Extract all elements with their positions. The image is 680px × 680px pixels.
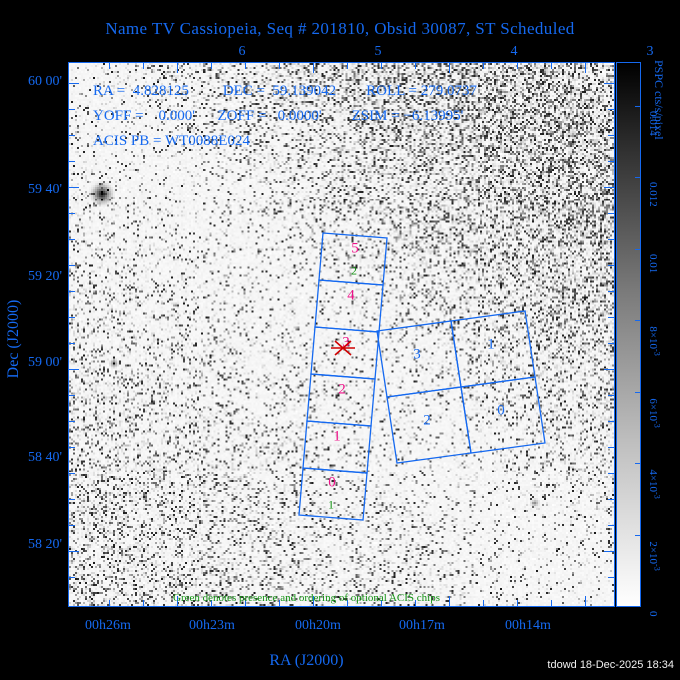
- tick-left-2: [69, 135, 75, 136]
- tick-right-0: [604, 83, 614, 84]
- tick-top-4: [245, 63, 246, 69]
- tick-top-11: [483, 63, 484, 69]
- colorbar-tick-0: [635, 606, 640, 607]
- y-axis-label-5: 58 20': [2, 537, 62, 553]
- colorbar-tick-label-5: 0.01: [647, 254, 659, 273]
- colorbar-tick-2: [635, 463, 640, 464]
- tick-right-8: [608, 291, 614, 292]
- tick-right-15: [608, 473, 614, 474]
- tick-left-8: [69, 291, 75, 292]
- chip-label-i3: 3: [413, 347, 421, 364]
- tick-left-12: [69, 395, 75, 396]
- colorbar-tick-label-6: 0.012: [647, 182, 659, 207]
- tick-left-15: [69, 473, 75, 474]
- chip-label-s2: 2: [338, 382, 346, 399]
- green-chip-note: Green denotes presence and ordering of o…: [0, 592, 613, 604]
- tick-right-18: [604, 551, 614, 552]
- x-axis-label-3: 00h17m: [399, 618, 445, 634]
- chip-optional-s0: 1: [328, 498, 334, 513]
- top-axis-label-3: 3: [647, 44, 654, 60]
- tick-left-3: [69, 161, 75, 162]
- tick-left-17: [69, 525, 75, 526]
- chip-label-i0: 0: [497, 403, 505, 420]
- timestamp-footer: tdowd 18-Dec-2025 18:34: [547, 659, 674, 671]
- tick-right-2: [608, 135, 614, 136]
- colorbar: [616, 62, 641, 607]
- tick-top-13: [551, 63, 552, 69]
- tick-right-1: [608, 109, 614, 110]
- tick-right-3: [608, 161, 614, 162]
- colorbar-tick-1: [635, 535, 640, 536]
- tick-top-6: [313, 63, 314, 73]
- tick-left-13: [69, 421, 75, 422]
- y-axis-label-0: 60 00': [2, 74, 62, 90]
- colorbar-tick-label-2: 4×10-3: [647, 469, 662, 498]
- colorbar-tick-label-4: 8×10-3: [647, 327, 662, 356]
- observation-plot-window: Name TV Cassiopeia, Seq # 201810, Obsid …: [0, 0, 680, 680]
- tick-right-16: [608, 499, 614, 500]
- tick-top-5: [279, 63, 280, 69]
- colorbar-tick-7: [635, 106, 640, 107]
- tick-top-2: [177, 63, 178, 73]
- readout-line-offsets: YOFF = 0.000' ZOFF = 0.0000' ZSIM = −6.1…: [93, 108, 463, 125]
- tick-right-5: [608, 213, 614, 214]
- tick-top-7: [347, 63, 348, 69]
- colorbar-tick-4: [635, 320, 640, 321]
- tick-top-3: [211, 63, 212, 69]
- tick-right-12: [608, 395, 614, 396]
- top-axis-label-0: 6: [239, 44, 246, 60]
- tick-left-1: [69, 109, 75, 110]
- tick-left-10: [69, 343, 75, 344]
- tick-left-19: [69, 577, 75, 578]
- colorbar-tick-6: [635, 177, 640, 178]
- colorbar-tick-3: [635, 392, 640, 393]
- x-axis-title: RA (J2000): [0, 652, 613, 670]
- tick-right-17: [608, 525, 614, 526]
- x-axis-label-1: 00h23m: [189, 618, 235, 634]
- y-axis-title: Dec (J2000): [5, 239, 23, 439]
- tick-left-5: [69, 213, 75, 214]
- tick-left-6: [69, 239, 75, 240]
- readout-line-acis-pb: ACIS PB = WT0088E024: [93, 133, 250, 150]
- x-axis-label-4: 00h14m: [505, 618, 551, 634]
- top-axis-label-1: 5: [375, 44, 382, 60]
- tick-right-7: [608, 265, 614, 266]
- y-axis-label-4: 58 40': [2, 450, 62, 466]
- chip-label-s3: 3: [342, 335, 350, 352]
- chip-label-i2: 2: [423, 413, 431, 430]
- tick-top-1: [143, 63, 144, 69]
- tick-top-9: [415, 63, 416, 69]
- tick-left-9: [69, 317, 75, 318]
- sky-image-plot[interactable]: RA = 4.828125 DEC = 59.139042 ROLL = 279…: [68, 62, 615, 607]
- tick-top-0: [109, 63, 110, 69]
- x-axis-label-0: 00h26m: [85, 618, 131, 634]
- tick-left-0: [69, 83, 79, 84]
- page-title: Name TV Cassiopeia, Seq # 201810, Obsid …: [0, 19, 680, 39]
- top-axis-label-2: 4: [511, 44, 518, 60]
- tick-top-12: [517, 63, 518, 69]
- tick-left-7: [69, 265, 75, 266]
- tick-left-11: [69, 369, 79, 370]
- tick-top-8: [381, 63, 382, 69]
- colorbar-tick-5: [635, 249, 640, 250]
- tick-right-10: [608, 343, 614, 344]
- x-axis-label-2: 00h20m: [295, 618, 341, 634]
- chip-optional-s5: 2: [351, 264, 357, 279]
- chip-label-i1: 1: [487, 337, 495, 354]
- tick-left-16: [69, 499, 75, 500]
- tick-right-4: [604, 187, 614, 188]
- chip-label-s0: 0: [328, 475, 336, 492]
- tick-top-14: [585, 63, 586, 73]
- tick-right-6: [608, 239, 614, 240]
- chip-label-s4: 4: [347, 288, 355, 305]
- tick-right-19: [608, 577, 614, 578]
- tick-top-10: [449, 63, 450, 73]
- tick-right-13: [608, 421, 614, 422]
- tick-right-9: [608, 317, 614, 318]
- tick-left-18: [69, 551, 79, 552]
- tick-left-4: [69, 187, 79, 188]
- tick-left-14: [69, 447, 75, 448]
- tick-right-11: [604, 369, 614, 370]
- readout-line-coordinates: RA = 4.828125 DEC = 59.139042 ROLL = 279…: [93, 83, 477, 100]
- colorbar-tick-label-3: 6×10-3: [647, 398, 662, 427]
- colorbar-tick-label-0: 0: [647, 611, 659, 617]
- colorbar-tick-label-1: 2×10-3: [647, 541, 662, 570]
- chip-label-s5: 5: [351, 241, 359, 258]
- chip-label-s1: 1: [333, 429, 341, 446]
- colorbar-tick-label-7: 0.014: [647, 111, 659, 136]
- y-axis-label-1: 59 40': [2, 182, 62, 198]
- tick-right-14: [608, 447, 614, 448]
